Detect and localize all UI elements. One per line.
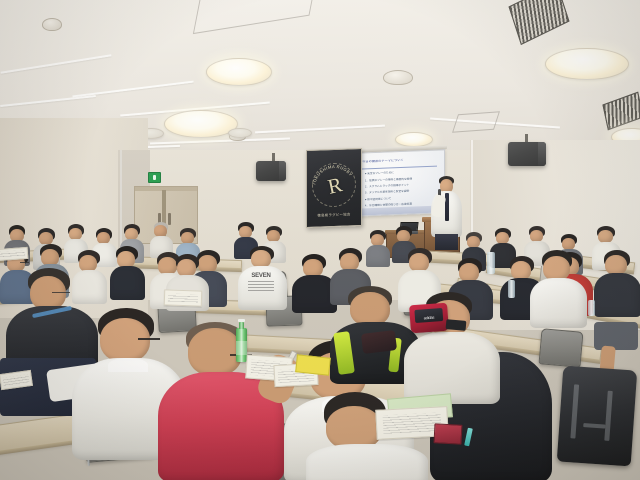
smoke-detector [42, 18, 62, 31]
bottle-label [236, 341, 247, 355]
ceiling-access-panel [452, 111, 500, 132]
green-tea-bottle[interactable] [236, 328, 247, 362]
attendee-head [188, 328, 242, 376]
tee-graphic-text: SEVEN [244, 273, 278, 279]
adidas-sports-bag[interactable]: adidas [409, 303, 449, 334]
projector-lens-face [279, 161, 286, 181]
backpack-logo [583, 423, 605, 429]
speaker-side-face [538, 142, 546, 166]
eyeglasses [20, 262, 29, 265]
clear-water-bottle[interactable] [588, 300, 595, 316]
ceiling-light [545, 48, 629, 80]
photo-scene: 今日の講習のテーマについて ● 安全なプレーのために 1．危険なプレーの排除と積… [0, 0, 640, 480]
backpack-strap [570, 384, 579, 438]
exit-sign [148, 172, 161, 183]
presenter [430, 176, 464, 248]
device-black[interactable] [446, 319, 467, 331]
ceiling-light [228, 128, 252, 138]
bag-dark[interactable] [361, 330, 397, 354]
attendee-body [110, 266, 145, 300]
attendee-head [605, 255, 627, 275]
attendee [530, 250, 586, 326]
handout-paper[interactable] [164, 289, 203, 306]
attendee-body [594, 273, 640, 317]
attendee-body [306, 444, 428, 480]
banner-jp-text: 徳島県ラグビー協会 [307, 211, 361, 218]
backpack-strap [604, 391, 612, 441]
attendee-shorts [594, 322, 638, 350]
seven-tee-attendee: SEVEN [238, 246, 286, 310]
door-frame-top [135, 187, 197, 191]
handout-paper[interactable] [0, 247, 28, 261]
bottle-neck [239, 322, 244, 329]
smoke-detector [383, 70, 413, 85]
yellow-folder[interactable] [295, 354, 331, 375]
eyeglasses [138, 338, 160, 342]
red-shirt-attendee [158, 322, 282, 480]
eyeglasses [52, 292, 70, 295]
tee-graphic-sub [248, 281, 274, 291]
ceiling-light [395, 132, 433, 147]
attendee [110, 246, 144, 298]
attendee-body [530, 278, 587, 328]
ceiling-speaker [508, 142, 546, 166]
red-notebook[interactable] [433, 423, 462, 444]
clear-water-bottle[interactable] [487, 252, 495, 274]
black-backpack[interactable] [557, 366, 638, 467]
ceiling-projector [256, 161, 286, 181]
club-banner: TOKUSHIMA RUGBY R 徳島県ラグビー協会 [306, 148, 362, 228]
clear-water-bottle[interactable] [508, 280, 515, 298]
ceiling-light [164, 110, 238, 138]
ceiling-light [206, 58, 272, 86]
shirt-collar [108, 358, 148, 372]
attendee-head [350, 292, 390, 326]
bottle-cap [238, 319, 244, 322]
attendee [594, 250, 640, 316]
